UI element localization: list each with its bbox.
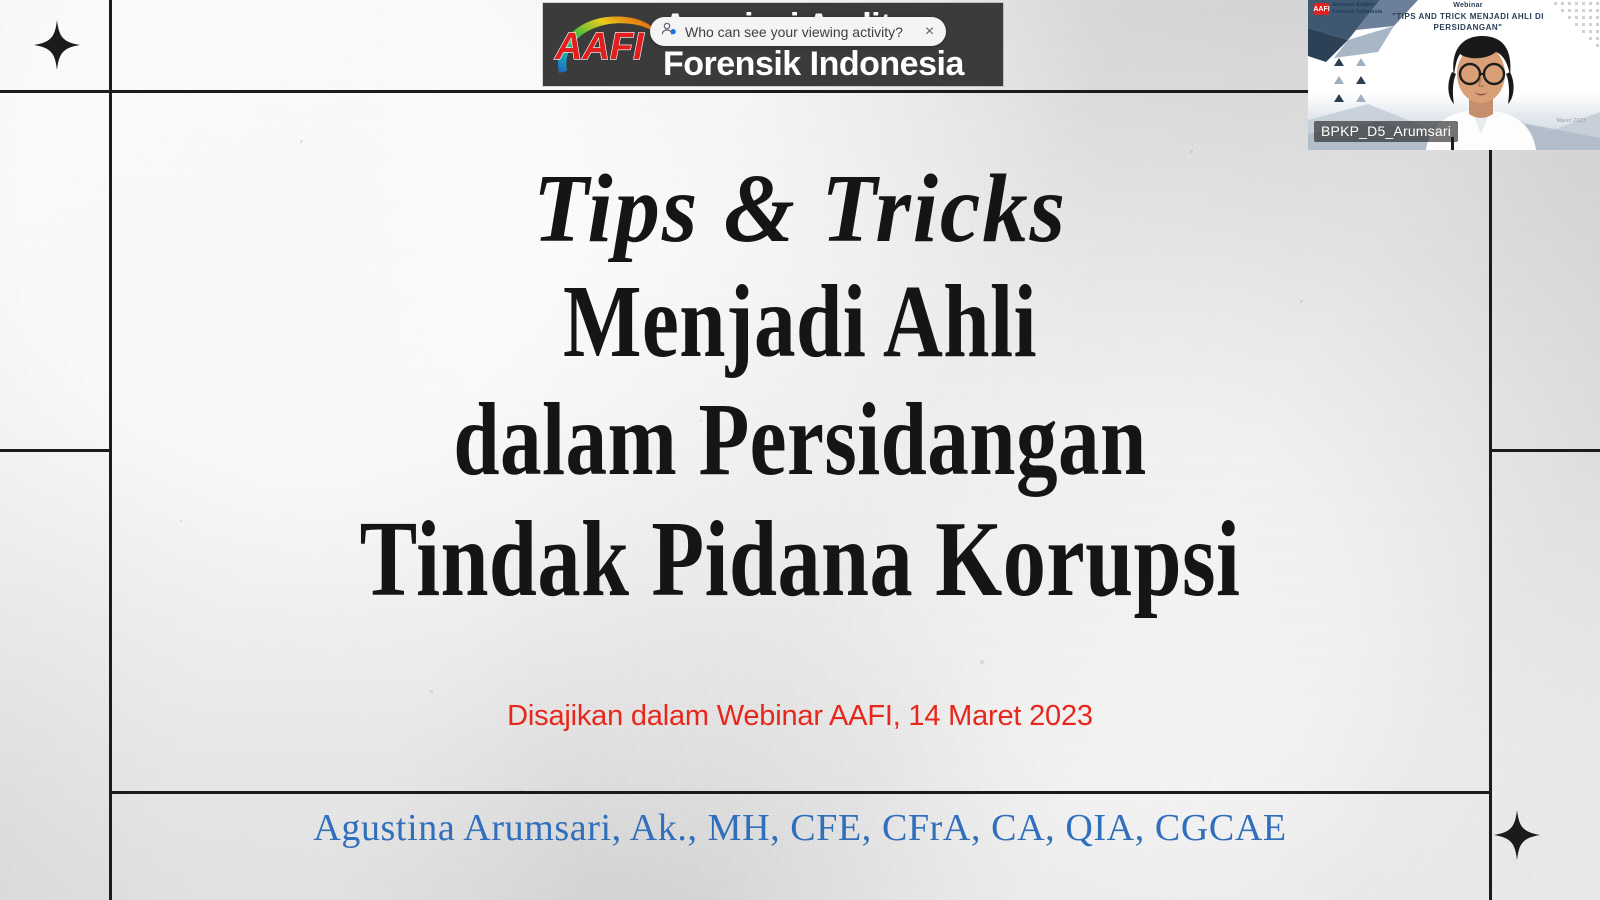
aafi-mark-icon: AAFI [1314, 3, 1329, 15]
slide-author: Agustina Arumsari, Ak., MH, CFE, CFrA, C… [0, 806, 1600, 850]
privacy-popup[interactable]: Who can see your viewing activity? × [650, 17, 946, 46]
title-line-3: dalam Persidangan [160, 388, 1440, 492]
texture-speck [300, 140, 303, 143]
banner-line-2: Forensik Indonesia [663, 45, 1003, 83]
video-slide-heading: Webinar [1368, 2, 1568, 9]
participant-name-label: BPKP_D5_Arumsari [1314, 121, 1458, 142]
sparkle-star-icon-top-left [34, 20, 80, 70]
rule-horizontal-bottom [110, 791, 1490, 794]
dotted-grid-decor [1552, 0, 1600, 60]
texture-speck [1190, 150, 1193, 153]
slide-stage: Tips & Tricks Menjadi Ahli dalam Persida… [0, 0, 1600, 900]
svg-text:AAFI: AAFI [554, 26, 645, 68]
triangle-icon [1334, 58, 1344, 66]
slide-subtitle: Disajikan dalam Webinar AAFI, 14 Maret 2… [0, 700, 1600, 733]
video-tile-caret [1451, 137, 1454, 150]
video-participant-tile[interactable]: AAFI Asosiasi Auditor Forensik Indonesia… [1308, 0, 1600, 150]
triangle-icon [1334, 94, 1344, 102]
title-line-2: Menjadi Ahli [160, 270, 1440, 374]
triangle-icon [1334, 76, 1344, 84]
texture-speck [980, 660, 984, 664]
video-slide-heading-block: Webinar "TIPS AND TRICK MENJADI AHLI DI … [1368, 2, 1568, 33]
triangle-icon [1356, 76, 1366, 84]
title-line-1: Tips & Tricks [56, 160, 1544, 258]
privacy-popup-label: Who can see your viewing activity? [685, 24, 903, 40]
person-privacy-icon [661, 22, 677, 41]
title-line-4: Tindak Pidana Korupsi [160, 506, 1440, 614]
aafi-logo-icon: AAFI [551, 11, 661, 77]
video-slide-corner-note: Maret 2023 [1557, 118, 1586, 124]
triangle-icon [1356, 58, 1366, 66]
texture-speck [430, 690, 433, 693]
slide-triangle-bullets [1328, 55, 1372, 109]
close-icon[interactable]: × [911, 24, 936, 40]
triangle-icon [1356, 94, 1366, 102]
slide-title-block: Tips & Tricks Menjadi Ahli dalam Persida… [0, 160, 1600, 614]
